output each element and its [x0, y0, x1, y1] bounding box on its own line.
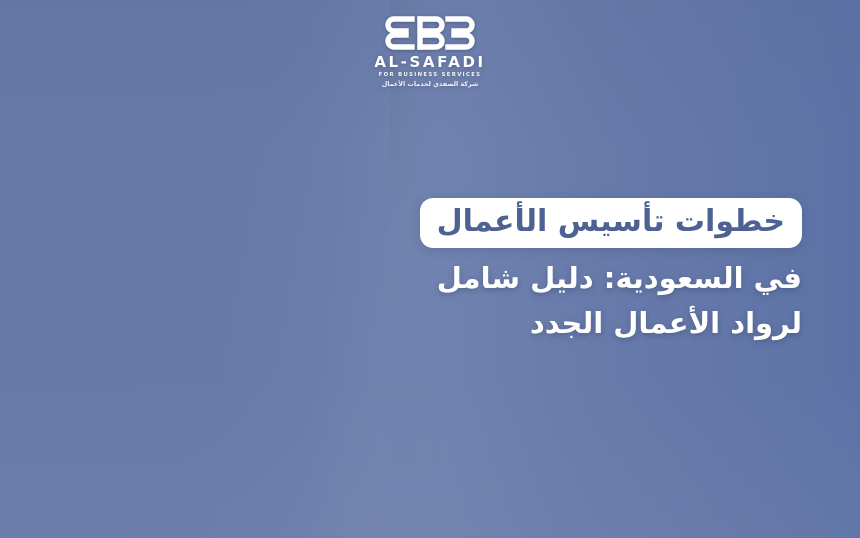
logo-arabic-name: شركة الصفدي لخدمات الأعمال: [370, 81, 490, 88]
logo-tagline: FOR BUSINESS SERVICES: [370, 73, 490, 79]
logo-name: AL-SAFADI: [370, 55, 490, 71]
company-logo[interactable]: AL-SAFADI FOR BUSINESS SERVICES شركة الص…: [370, 12, 490, 88]
headline-line-3: لرواد الأعمال الجدد: [402, 306, 802, 341]
headline-line-2: في السعودية: دليل شامل: [402, 261, 802, 296]
sbs-monogram-icon: [382, 12, 478, 54]
headline-line-1: خطوات تأسيس الأعمال: [420, 198, 802, 248]
promo-banner: AL-SAFADI FOR BUSINESS SERVICES شركة الص…: [0, 0, 860, 538]
headline-block: خطوات تأسيس الأعمال في السعودية: دليل شا…: [402, 198, 802, 341]
